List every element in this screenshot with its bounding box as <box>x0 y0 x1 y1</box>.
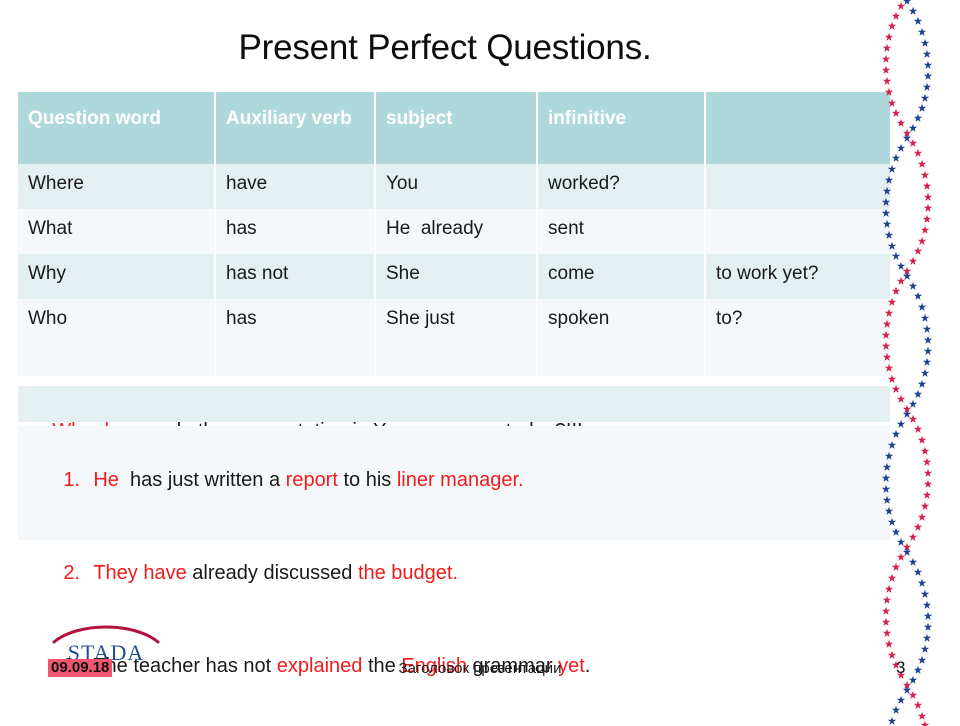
text-run: already discussed <box>187 562 358 584</box>
table-header-cell: subject <box>375 92 537 164</box>
footer-page-number: 3 <box>896 658 905 678</box>
example-question-band: Who has made the presentation in Your co… <box>18 386 890 422</box>
table-cell: spoken <box>537 299 705 344</box>
text-run: He <box>93 469 124 491</box>
text-run: liner manager. <box>397 469 524 491</box>
table-cell <box>705 209 890 254</box>
example-sentence-list: 1.He has just written a report to his li… <box>18 426 890 540</box>
footer-presentation-title: Заголовок презентации <box>0 660 960 677</box>
table-row: What has He already sent <box>18 209 890 254</box>
table-cell: have <box>215 164 375 209</box>
table-cell: sent <box>537 209 705 254</box>
table-cell: What <box>18 209 215 254</box>
table-cell: has <box>215 299 375 344</box>
table-cell <box>705 344 890 376</box>
slide-canvas: Present Perfect Questions. Question word… <box>0 0 960 720</box>
table-row: Where have You worked? <box>18 164 890 209</box>
present-perfect-questions-table: Question word Auxiliary verb subject inf… <box>18 92 890 376</box>
list-item-text: They have already discussed the budget. <box>93 562 458 584</box>
table-header-cell <box>705 92 890 164</box>
table-cell: come <box>537 254 705 299</box>
table-header-cell: infinitive <box>537 92 705 164</box>
text-run: They have <box>93 562 186 584</box>
table-cell: worked? <box>537 164 705 209</box>
list-item: 2.They have already discussed the budget… <box>30 527 890 620</box>
table-header-cell: Question word <box>18 92 215 164</box>
page-title: Present Perfect Questions. <box>0 26 890 70</box>
table-row: Why has not She come to work yet? <box>18 254 890 299</box>
table-header-row: Question word Auxiliary verb subject inf… <box>18 92 890 164</box>
list-item: 1.He has just written a report to his li… <box>30 434 890 527</box>
table-cell <box>705 164 890 209</box>
table-header-cell: Auxiliary verb <box>215 92 375 164</box>
table-cell <box>375 344 537 376</box>
list-item-number: 1. <box>63 465 93 496</box>
table-cell: Where <box>18 164 215 209</box>
table-cell: has <box>215 209 375 254</box>
text-run: the budget. <box>358 562 458 584</box>
table-cell: She <box>375 254 537 299</box>
table-cell: He already <box>375 209 537 254</box>
text-run: has just written a <box>124 469 285 491</box>
table-cell: Who <box>18 299 215 344</box>
table-row: Who has She just spoken to? <box>18 299 890 344</box>
table-cell: has not <box>215 254 375 299</box>
table-cell: You <box>375 164 537 209</box>
table-cell: to? <box>705 299 890 344</box>
table-row-empty <box>18 344 890 376</box>
table-cell: She just <box>375 299 537 344</box>
table-cell <box>18 344 215 376</box>
table-cell <box>537 344 705 376</box>
table-cell: to work yet? <box>705 254 890 299</box>
list-item-number: 2. <box>63 558 93 589</box>
table-cell: Why <box>18 254 215 299</box>
table-cell <box>215 344 375 376</box>
text-run: report <box>286 469 338 491</box>
text-run: to his <box>338 469 397 491</box>
list-item-text: He has just written a report to his line… <box>93 469 523 491</box>
